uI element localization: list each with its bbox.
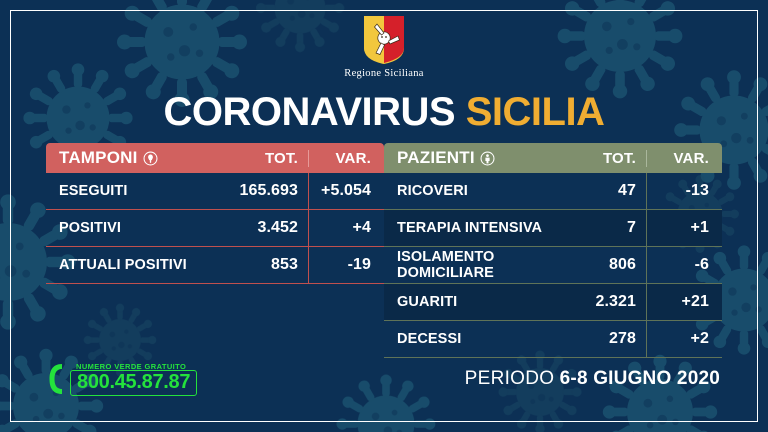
tamponi-header-name-cell: TAMPONI (46, 148, 236, 168)
pazienti-table-header: PAZIENTI TOT. VAR. (384, 143, 722, 173)
period-value: 6-8 GIUGNO 2020 (560, 368, 720, 389)
sicily-trinacria-shield-icon (361, 14, 407, 66)
table-row: GUARITI 2.321 +21 (384, 284, 722, 321)
person-patient-icon (480, 151, 495, 166)
row-total: 47 (574, 182, 646, 200)
row-label: DECESSI (384, 331, 574, 347)
row-variation: -19 (308, 247, 384, 284)
row-label: TERAPIA INTENSIVA (384, 220, 574, 236)
row-variation: +5.054 (308, 173, 384, 210)
pazienti-header-var: VAR. (646, 150, 722, 167)
pazienti-header-label: PAZIENTI (397, 148, 475, 168)
title-main: CORONAVIRUS (164, 90, 456, 134)
row-variation: +2 (646, 321, 722, 358)
row-label: RICOVERI (384, 183, 574, 199)
row-label: ATTUALI POSITIVI (46, 257, 236, 273)
row-total: 165.693 (236, 182, 308, 200)
tamponi-header-tot: TOT. (236, 150, 308, 167)
row-label: GUARITI (384, 294, 574, 310)
row-variation: +1 (646, 210, 722, 247)
tamponi-table-header: TAMPONI TOT. VAR. (46, 143, 384, 173)
row-variation: -6 (646, 247, 722, 284)
row-total: 3.452 (236, 219, 308, 237)
row-total: 7 (574, 219, 646, 237)
swab-test-icon (143, 151, 158, 166)
pazienti-header-tot: TOT. (574, 150, 646, 167)
tamponi-header-label: TAMPONI (59, 148, 138, 168)
hotline-number[interactable]: 800.45.87.87 (70, 370, 197, 396)
row-total: 806 (574, 256, 646, 274)
tamponi-table: TAMPONI TOT. VAR. ESEGUITI 165.693 +5.05… (46, 143, 384, 358)
hotline-text-box: NUMERO VERDE GRATUITO 800.45.87.87 (70, 362, 197, 396)
row-total: 278 (574, 330, 646, 348)
table-row: TERAPIA INTENSIVA 7 +1 (384, 210, 722, 247)
tamponi-header-var: VAR. (308, 150, 384, 167)
statistics-tables: TAMPONI TOT. VAR. ESEGUITI 165.693 +5.05… (46, 143, 722, 358)
regione-siciliana-emblem: Regione Siciliana (0, 14, 768, 79)
row-variation: +4 (308, 210, 384, 247)
table-row: ISOLAMENTO DOMICILIARE 806 -6 (384, 247, 722, 284)
pazienti-header-name-cell: PAZIENTI (384, 148, 574, 168)
table-row: ESEGUITI 165.693 +5.054 (46, 173, 384, 210)
table-row: ATTUALI POSITIVI 853 -19 (46, 247, 384, 284)
table-row: POSITIVI 3.452 +4 (46, 210, 384, 247)
row-label: POSITIVI (46, 220, 236, 236)
period-lead: PERIODO (465, 368, 555, 389)
row-total: 853 (236, 256, 308, 274)
hotline-block[interactable]: NUMERO VERDE GRATUITO 800.45.87.87 (48, 362, 197, 396)
title-accent: SICILIA (466, 90, 605, 134)
regione-siciliana-label: Regione Siciliana (344, 68, 423, 79)
phone-handset-icon (48, 362, 66, 396)
row-total: 2.321 (574, 293, 646, 311)
table-row: RICOVERI 47 -13 (384, 173, 722, 210)
row-label: ISOLAMENTO DOMICILIARE (384, 249, 574, 281)
hotline-label: NUMERO VERDE GRATUITO (70, 362, 197, 371)
table-row: DECESSI 278 +2 (384, 321, 722, 358)
pazienti-table: PAZIENTI TOT. VAR. RICOVERI 47 -13 TERAP… (384, 143, 722, 358)
period-block: PERIODO 6-8 GIUGNO 2020 (465, 368, 720, 390)
row-variation: +21 (646, 284, 722, 321)
row-variation: -13 (646, 173, 722, 210)
page-title: CORONAVIRUS SICILIA (0, 92, 768, 132)
row-label: ESEGUITI (46, 183, 236, 199)
